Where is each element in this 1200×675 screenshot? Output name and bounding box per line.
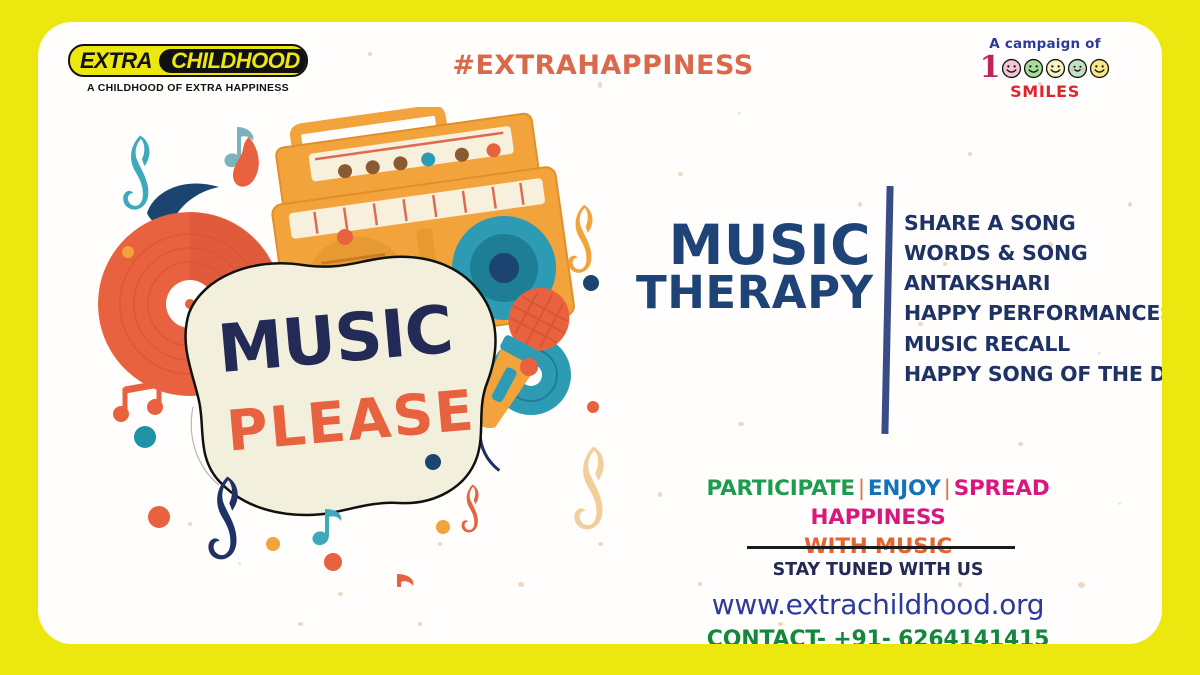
smiley-face-icon-2 <box>1023 58 1044 79</box>
poster-card: EXTRA CHILDHOOD A CHILDHOOD OF EXTRA HAP… <box>38 22 1162 644</box>
campaign-badge: A campaign of 1 SMILES <box>970 36 1120 101</box>
smiley-face-icon-5 <box>1089 58 1110 79</box>
smiley-face-icon-1 <box>1001 58 1022 79</box>
treble-clef-icon-coral-small <box>462 485 479 533</box>
list-item: HAPPY PERFORMANCES <box>904 298 1162 328</box>
campaign-numeral-row: 1 <box>970 53 1120 83</box>
music-illustration: MUSIC PLEASE <box>93 107 653 587</box>
list-item: SHARE A SONG <box>904 208 1162 238</box>
list-item: WORDS & SONG <box>904 238 1162 268</box>
list-item: MUSIC RECALL <box>904 329 1162 359</box>
tagline-separator-1: | <box>855 476 868 501</box>
list-item: ANTAKSHARI <box>904 268 1162 298</box>
dot-coral-5 <box>122 246 134 258</box>
tagline-participate: PARTICIPATE <box>706 476 854 501</box>
dot-coral-1 <box>148 506 170 528</box>
brand-logo[interactable]: EXTRA CHILDHOOD A CHILDHOOD OF EXTRA HAP… <box>68 44 308 94</box>
poster-root: EXTRA CHILDHOOD A CHILDHOOD OF EXTRA HAP… <box>0 0 1200 675</box>
logo-word-childhood: CHILDHOOD <box>159 49 308 73</box>
stay-tuned-label: STAY TUNED WITH US <box>643 560 1113 580</box>
campaign-numeral: 1 <box>980 53 1001 83</box>
dot-yellow-1 <box>266 537 280 551</box>
dot-yellow-2 <box>436 520 450 534</box>
activities-list: SHARE A SONG WORDS & SONG ANTAKSHARI HAP… <box>904 208 1162 389</box>
dot-navy-1 <box>425 454 441 470</box>
smiley-face-icon-4 <box>1067 58 1088 79</box>
vertical-divider <box>881 186 893 434</box>
headline-line-1: MUSIC <box>636 220 871 272</box>
contact-phone[interactable]: CONTACT- +91- 6264141415 <box>643 627 1113 644</box>
logo-word-extra: EXTRA <box>70 46 159 75</box>
treble-clef-icon-navy <box>208 477 237 560</box>
music-note-icon-coral-left <box>113 384 163 422</box>
treble-clef-icon-teal <box>123 136 149 210</box>
dot-navy-2 <box>583 275 599 291</box>
dot-coral-3 <box>337 229 353 245</box>
footer-divider-rule <box>747 546 1015 549</box>
hashtag-text: #EXTRAHAPPINESS <box>433 50 773 81</box>
logo-tagline: A CHILDHOOD OF EXTRA HAPPINESS <box>68 82 308 94</box>
music-note-icon-coral-bottom <box>384 574 413 587</box>
headline-line-2: THERAPY <box>636 272 871 314</box>
website-link[interactable]: www.extrachildhood.org <box>643 588 1113 621</box>
dot-coral-2 <box>324 553 342 571</box>
page-title: MUSIC THERAPY <box>636 220 871 314</box>
tagline-enjoy: ENJOY <box>868 476 941 501</box>
logo-pill: EXTRA CHILDHOOD <box>68 44 308 77</box>
dot-coral-6 <box>587 401 599 413</box>
treble-clef-icon-yellow <box>568 205 592 273</box>
treble-clef-icon-pale <box>574 447 603 530</box>
dot-coral-4 <box>520 358 538 376</box>
dot-teal <box>134 426 156 448</box>
list-item: HAPPY SONG OF THE DAY <box>904 359 1162 389</box>
smiley-face-icon-3 <box>1045 58 1066 79</box>
music-please-blob <box>186 257 496 515</box>
tagline-separator-2: | <box>941 476 954 501</box>
